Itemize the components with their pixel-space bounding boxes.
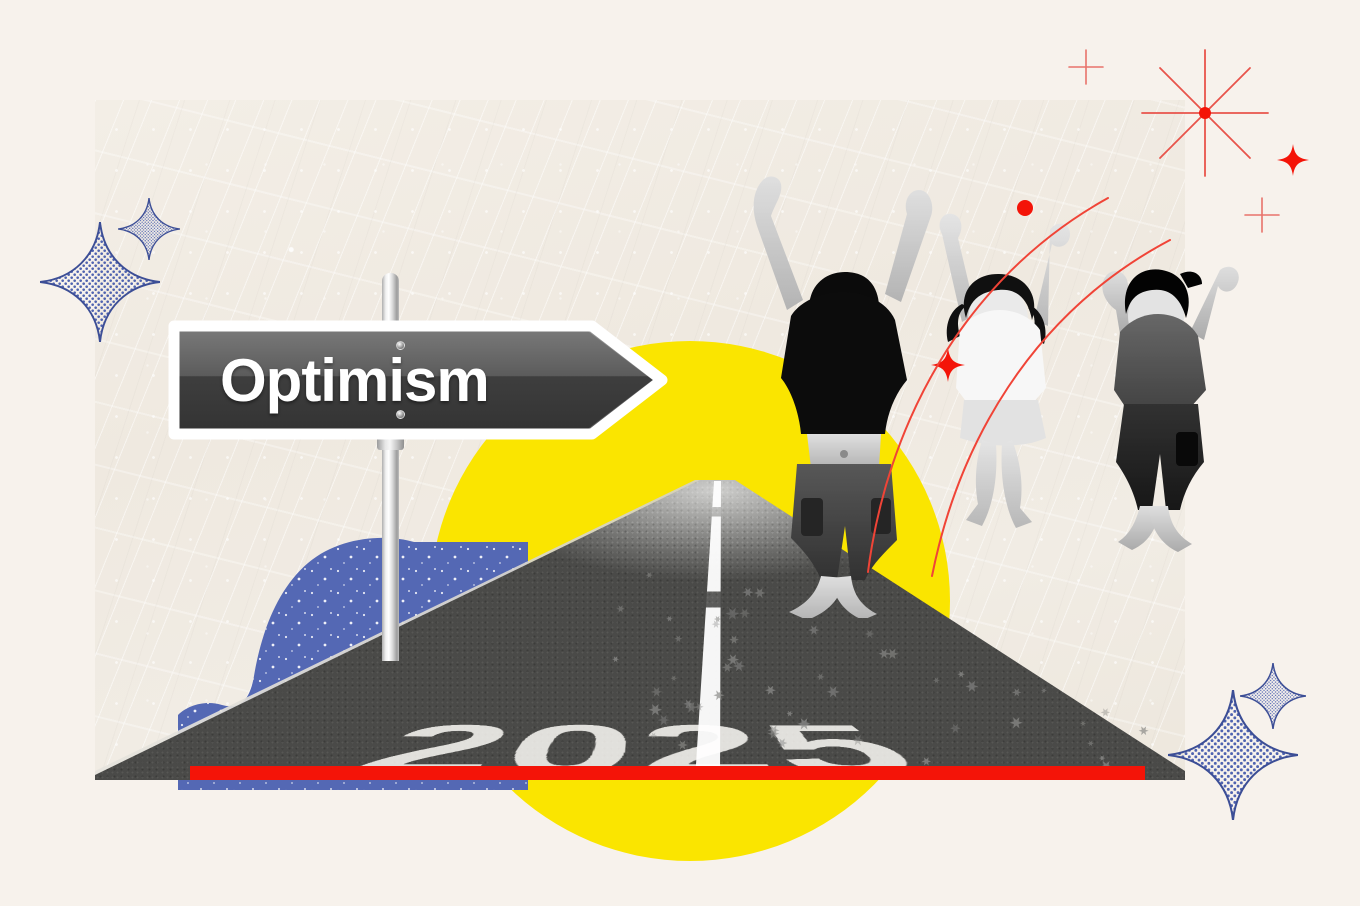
red-sparkle-4-point-right [1277, 144, 1309, 181]
optimism-direction-sign[interactable]: Optimism [168, 320, 668, 440]
red-bottom-bar [190, 766, 1145, 780]
person-jumping-boy-dark-shirt [1080, 248, 1245, 558]
blue-sparkle-small-right [1240, 663, 1306, 734]
red-cross-top-icon [1067, 48, 1105, 91]
blue-sparkle-large-right [1168, 690, 1298, 825]
red-cross-right-icon [1243, 196, 1281, 239]
sign-label-text: Optimism [220, 320, 550, 440]
person-jumping-teen-arms-up [745, 168, 935, 618]
poster-canvas: 2025 Optimism [0, 0, 1360, 906]
person-jumping-girl-white-top [928, 208, 1078, 548]
